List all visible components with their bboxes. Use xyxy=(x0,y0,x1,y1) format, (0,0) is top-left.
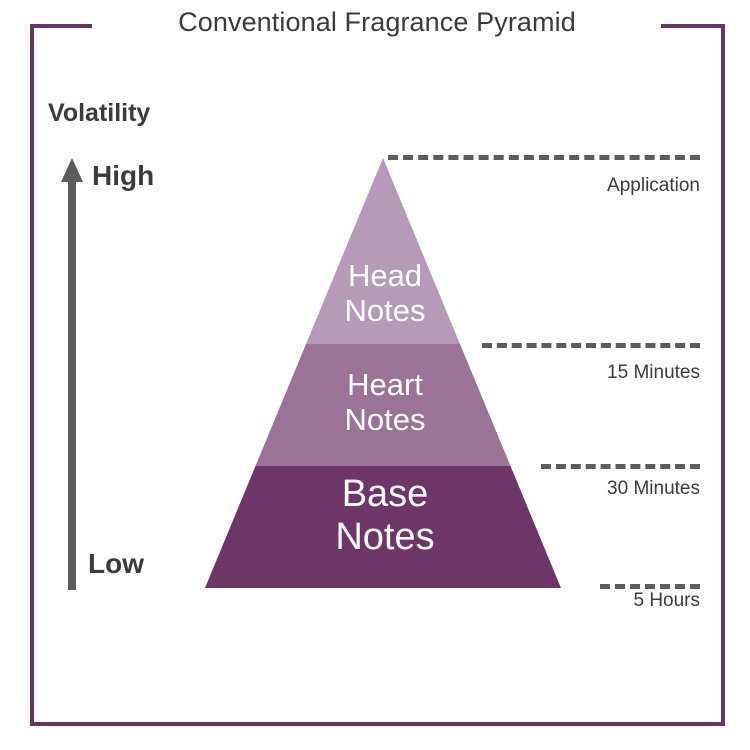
frame-right-border xyxy=(721,24,725,726)
fragrance-pyramid-diagram: Conventional Fragrance Pyramid Volatilit… xyxy=(0,0,750,750)
timeline-label-15-minutes: 15 Minutes xyxy=(460,362,700,384)
frame-bottom-border xyxy=(30,722,725,726)
timeline-label-application: Application xyxy=(460,175,700,197)
frame-top-right-border xyxy=(661,24,725,28)
tier-label-base: Base Notes xyxy=(290,473,480,559)
dash-line-application xyxy=(388,155,700,160)
frame-top-left-border xyxy=(30,24,92,28)
dash-line-5-hours xyxy=(600,584,700,589)
dash-line-15-minutes xyxy=(482,343,700,348)
timeline-label-5-hours: 5 Hours xyxy=(460,590,700,612)
volatility-high-label: High xyxy=(92,160,154,192)
timeline-label-30-minutes: 30 Minutes xyxy=(460,478,700,500)
frame-left-border xyxy=(30,24,34,726)
volatility-low-label: Low xyxy=(88,548,144,580)
volatility-arrow-icon xyxy=(60,158,84,590)
page-title: Conventional Fragrance Pyramid xyxy=(92,7,662,38)
tier-label-head: Head Notes xyxy=(300,258,470,328)
tier-label-heart: Heart Notes xyxy=(300,367,470,437)
volatility-axis-label: Volatility xyxy=(48,99,150,128)
dash-line-30-minutes xyxy=(541,464,700,469)
